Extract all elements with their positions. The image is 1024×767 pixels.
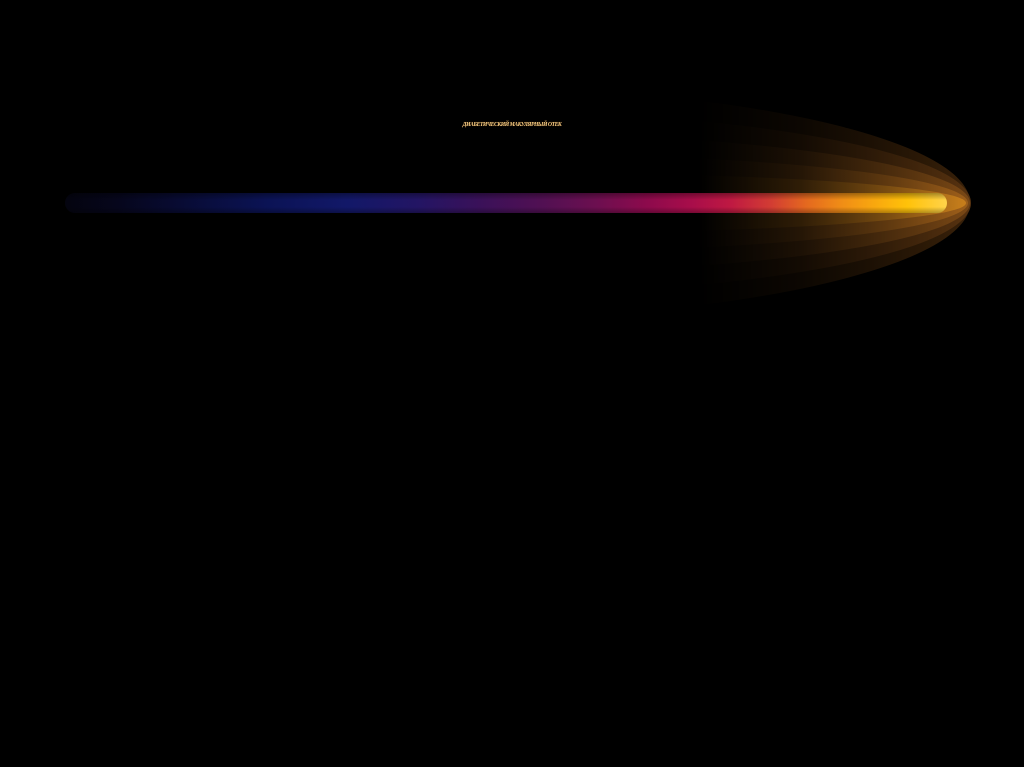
slide-canvas: ДИАБЕТИЧЕСКИЙ МАКУЛЯРНЫЙ ОТЕК фармаколог… <box>0 0 1024 767</box>
petal-1 <box>90 173 966 233</box>
gradient-bar <box>65 193 947 213</box>
slide-title: ДИАБЕТИЧЕСКИЙ МАКУЛЯРНЫЙ ОТЕК <box>8 95 1017 155</box>
slide-subtitle: фармакологический витреолизис??? <box>0 383 1024 441</box>
petal-2 <box>42 154 968 252</box>
